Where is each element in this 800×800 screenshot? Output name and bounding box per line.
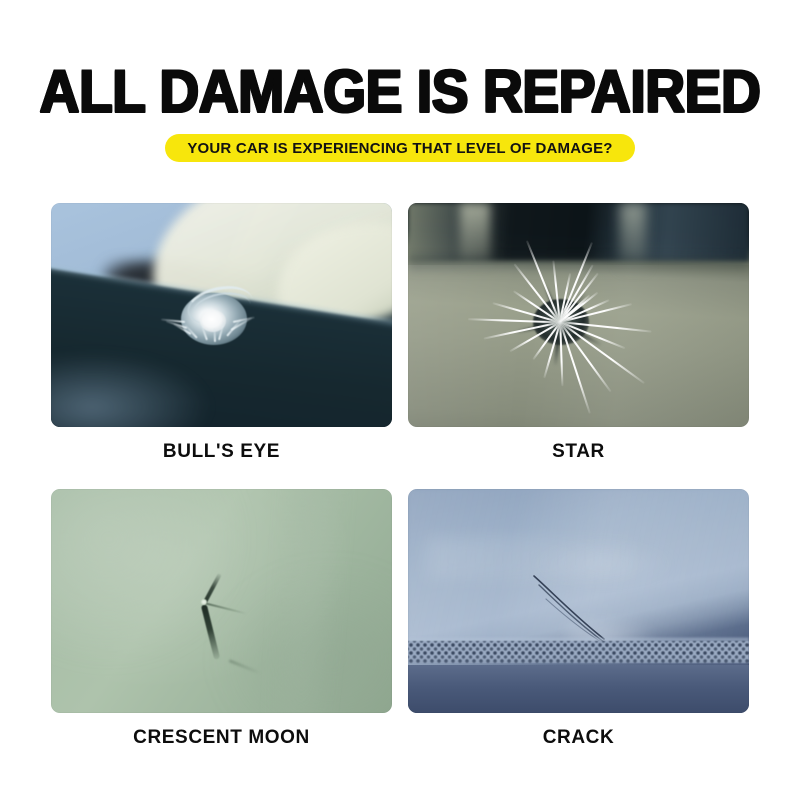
crack-impact-point bbox=[201, 599, 207, 605]
photo-crack bbox=[408, 489, 749, 713]
bulls-eye-chip-icon bbox=[173, 287, 261, 353]
subtitle-banner-wrapper: YOUR CAR IS EXPERIENCING THAT LEVEL OF D… bbox=[0, 134, 800, 162]
subtitle-text: YOUR CAR IS EXPERIENCING THAT LEVEL OF D… bbox=[187, 140, 612, 157]
grid-item-bulls-eye: BULL'S EYE bbox=[51, 203, 392, 463]
glass-reflection bbox=[51, 353, 211, 427]
caption-crescent-moon: CRESCENT MOON bbox=[51, 727, 392, 749]
caption-crack: CRACK bbox=[408, 727, 749, 749]
header-section: ALL DAMAGE IS REPAIRED YOUR CAR IS EXPER… bbox=[0, 0, 800, 185]
photo-bulls-eye bbox=[51, 203, 392, 427]
lower-glass-panel bbox=[408, 665, 749, 713]
caption-star: STAR bbox=[408, 441, 749, 463]
caption-bulls-eye: BULL'S EYE bbox=[51, 441, 392, 463]
grid-item-crack: CRACK bbox=[408, 489, 749, 749]
infographic-page: ALL DAMAGE IS REPAIRED YOUR CAR IS EXPER… bbox=[0, 0, 800, 800]
photo-star bbox=[408, 203, 749, 427]
grid-item-star: STAR bbox=[408, 203, 749, 463]
photo-crescent-moon bbox=[51, 489, 392, 713]
subtitle-banner: YOUR CAR IS EXPERIENCING THAT LEVEL OF D… bbox=[165, 134, 634, 162]
background-pillar bbox=[460, 203, 490, 265]
damage-type-grid: BULL'S EYE bbox=[51, 203, 749, 760]
grid-item-crescent-moon: CRESCENT MOON bbox=[51, 489, 392, 749]
page-title: ALL DAMAGE IS REPAIRED bbox=[32, 62, 768, 122]
